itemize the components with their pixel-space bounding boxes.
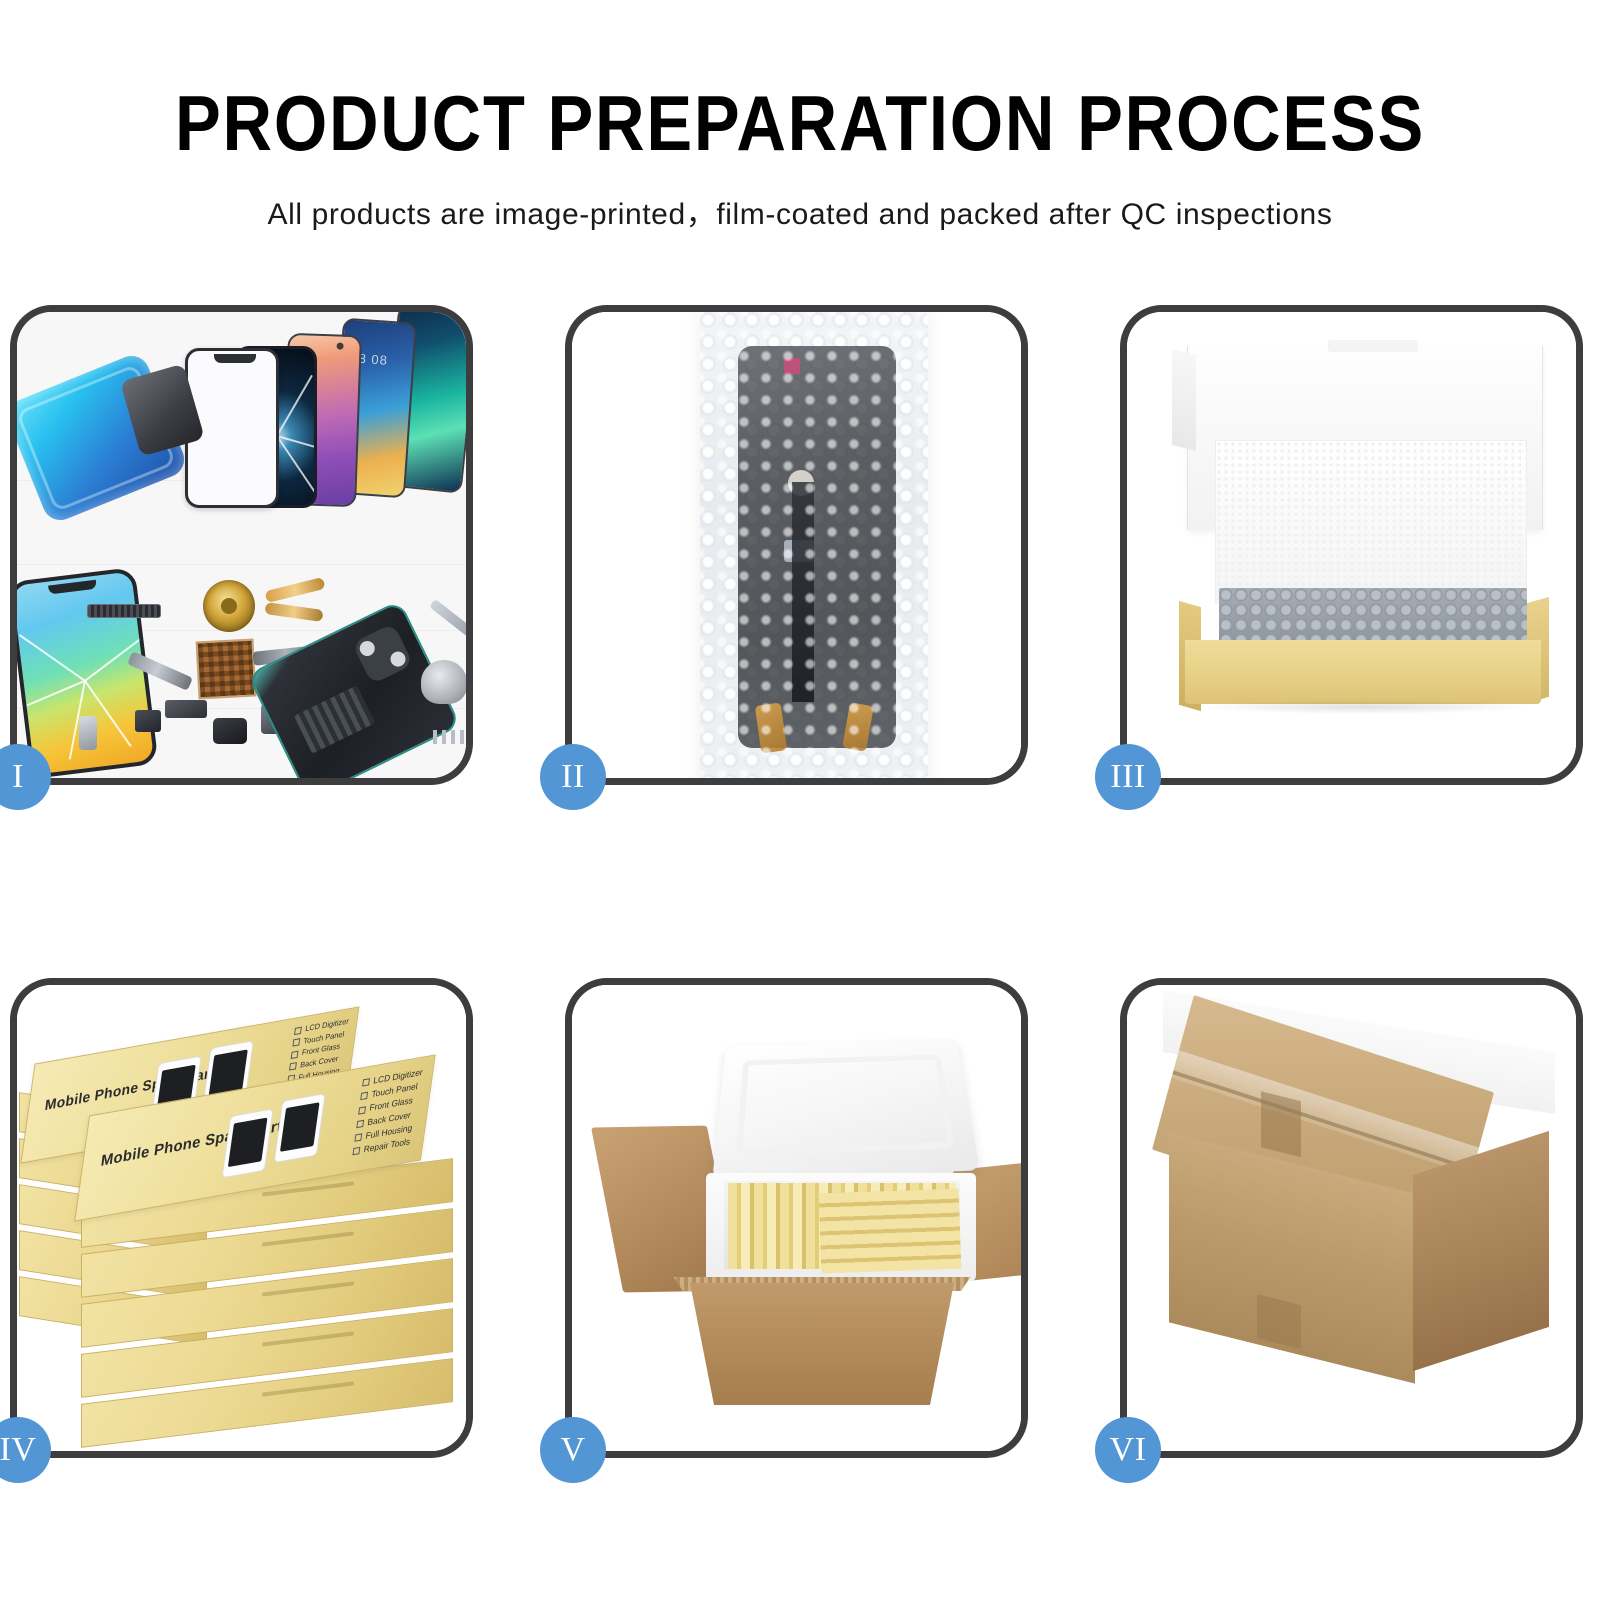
lcd-assembly-icon xyxy=(738,346,896,748)
tweezers-icon xyxy=(429,599,466,648)
page-subtitle: All products are image-printed，film-coat… xyxy=(0,189,1600,233)
sim-tray-icon xyxy=(79,716,97,750)
process-step-grid: 08 08 xyxy=(10,305,1590,1458)
step-badge-6: VI xyxy=(1095,1417,1161,1483)
box-shadow xyxy=(1197,700,1533,714)
pink-label-icon xyxy=(784,358,800,374)
step-badge-3: III xyxy=(1095,744,1161,810)
adhesive-frame-icon xyxy=(17,351,190,526)
flex-cable-gold-2-icon xyxy=(264,602,323,622)
process-step-4[interactable]: Mobile Phone Spare Parts LCD Digitizer T… xyxy=(10,978,473,1458)
retail-box-screen-art-front xyxy=(221,1090,345,1183)
bubble-wrapped-screen xyxy=(572,312,1021,778)
small-part-2-icon xyxy=(135,710,161,732)
process-step-1[interactable]: 08 08 xyxy=(10,305,473,785)
step-1-image: 08 08 xyxy=(17,312,466,778)
step-badge-2: II xyxy=(540,744,606,810)
small-part-1-icon xyxy=(165,700,207,718)
packed-retail-boxes-2-icon xyxy=(819,1189,962,1274)
process-row-2: Mobile Phone Spare Parts LCD Digitizer T… xyxy=(10,978,1590,1458)
bubble-wrap-layer-icon xyxy=(1219,588,1527,646)
phone-parts-collage: 08 08 xyxy=(17,312,466,778)
screws-icon xyxy=(433,730,466,744)
speaker-module-icon xyxy=(213,718,247,744)
styrofoam-lid-icon xyxy=(712,1039,980,1179)
open-kraft-box xyxy=(1127,312,1576,778)
cleaning-brush-icon xyxy=(421,660,466,704)
step-6-image xyxy=(1127,985,1576,1451)
screen-thumb-4-icon xyxy=(274,1093,326,1163)
process-step-3[interactable]: III xyxy=(1120,305,1583,785)
tape-tab-bottom-icon xyxy=(1257,1294,1301,1349)
board-connector-icon xyxy=(87,604,161,618)
sealed-shipping-carton xyxy=(1127,985,1576,1451)
bubble-wrap-bag-icon xyxy=(700,312,928,778)
carton-body-icon xyxy=(672,1283,972,1405)
gold-contact-right-icon xyxy=(842,702,874,751)
process-step-5[interactable]: V xyxy=(565,978,1028,1458)
home-button-icon xyxy=(788,470,814,496)
step-4-image: Mobile Phone Spare Parts LCD Digitizer T… xyxy=(17,985,466,1451)
page-title: PRODUCT PREPARATION PROCESS xyxy=(96,78,1504,169)
screen-thumb-3-icon xyxy=(221,1108,273,1178)
retail-box-checklist-front: LCD Digitizer Touch Panel Front Glass Ba… xyxy=(352,1066,424,1159)
process-step-6[interactable]: VI xyxy=(1120,978,1583,1458)
wireless-charging-coil-icon xyxy=(203,580,255,632)
box-front-panel-icon xyxy=(1185,640,1541,704)
bga-chip-icon xyxy=(196,639,257,700)
carton-with-foam-cooler xyxy=(572,985,1021,1451)
process-infographic: PRODUCT PREPARATION PROCESS All products… xyxy=(0,0,1600,1600)
process-step-2[interactable]: II xyxy=(565,305,1028,785)
lcd-flex-cable-icon xyxy=(792,482,814,702)
step-badge-5: V xyxy=(540,1417,606,1483)
header: PRODUCT PREPARATION PROCESS All products… xyxy=(0,0,1600,233)
step-2-image xyxy=(572,312,1021,778)
stacked-retail-boxes: Mobile Phone Spare Parts LCD Digitizer T… xyxy=(17,985,466,1451)
step-3-image xyxy=(1127,312,1576,778)
gold-contact-left-icon xyxy=(755,702,787,753)
tape-tab-top-icon xyxy=(1261,1091,1301,1157)
lcd-connector-icon xyxy=(784,540,814,562)
flex-cable-gold-icon xyxy=(264,577,325,603)
foam-sheet-icon xyxy=(1215,440,1527,604)
process-row-1: 08 08 xyxy=(10,305,1590,785)
step-5-image xyxy=(572,985,1021,1451)
